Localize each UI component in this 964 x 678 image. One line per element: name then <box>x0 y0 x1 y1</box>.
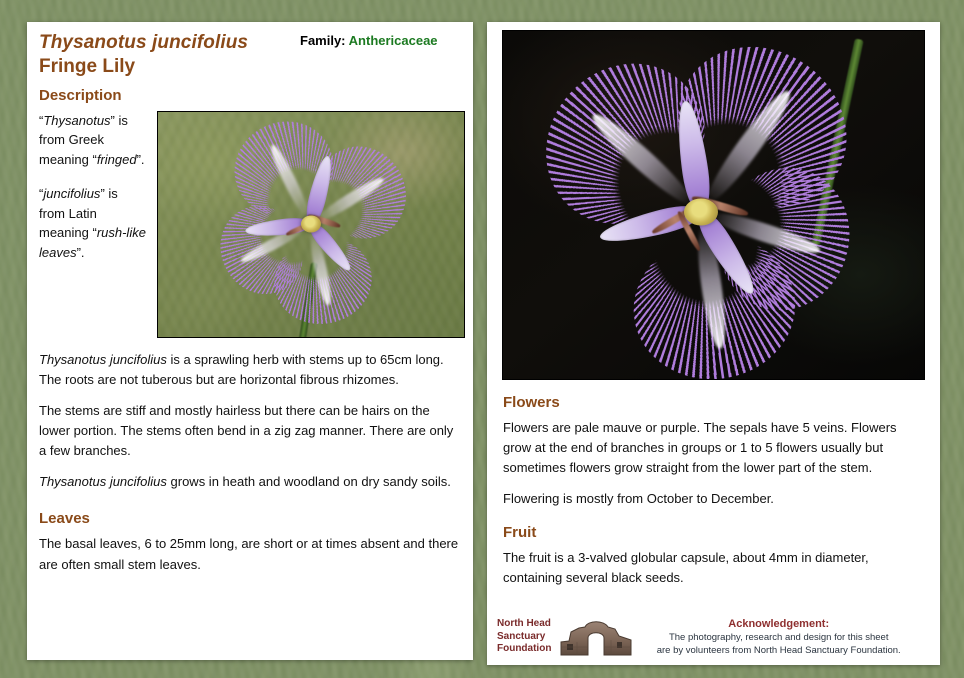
leaves-text: The basal leaves, 6 to 25mm long, are sh… <box>39 534 461 574</box>
description-paragraph-2: The stems are stiff and mostly hairless … <box>39 401 461 461</box>
description-heading: Description <box>39 87 461 105</box>
flowers-paragraph-1: Flowers are pale mauve or purple. The se… <box>503 418 926 478</box>
paragraph-3-italic-lead: Thysanotus juncifolius <box>39 474 167 489</box>
footer: North Head Sanctuary Foundation <box>487 609 940 665</box>
right-text-block: Flowers Flowers are pale mauve or purple… <box>487 380 940 588</box>
fruit-heading: Fruit <box>503 524 926 542</box>
left-content-panel: Thysanotus juncifolius Fringe Lily Descr… <box>27 22 473 660</box>
flower-center <box>684 198 718 225</box>
acknowledgement-line-2: are by volunteers from North Head Sanctu… <box>633 645 924 658</box>
acknowledgement-line-1: The photography, research and design for… <box>633 632 924 645</box>
family-value: Anthericaceae <box>349 33 438 48</box>
etymology-paragraph-1: “Thysanotus” is from Greek meaning “frin… <box>39 111 147 170</box>
etymology-term-1: Thysanotus <box>43 113 110 128</box>
right-content-panel: Flowers Flowers are pale mauve or purple… <box>487 22 940 665</box>
paragraph-2-text: The stems are stiff and mostly hairless … <box>39 403 453 458</box>
family-line: Family: Anthericaceae <box>300 33 438 48</box>
flowers-heading: Flowers <box>503 394 926 412</box>
acknowledgement-block: Acknowledgement: The photography, resear… <box>633 617 930 658</box>
family-label: Family: <box>300 33 346 48</box>
description-paragraph-1: Thysanotus juncifolius is a sprawling he… <box>39 350 461 390</box>
fringe-lily-photo-large <box>502 30 925 380</box>
common-name: Fringe Lily <box>39 56 461 79</box>
org-line-1: North Head <box>497 618 551 631</box>
description-paragraph-3: Thysanotus juncifolius grows in heath an… <box>39 472 461 492</box>
organisation-name: North Head Sanctuary Foundation <box>497 618 551 656</box>
acknowledgement-title: Acknowledgement: <box>633 617 924 631</box>
flower-center <box>301 216 321 233</box>
fringe-lily-photo-small <box>157 111 465 338</box>
org-line-3: Foundation <box>497 643 551 656</box>
etymology-paragraph-2: “juncifolius” is from Latin meaning “rus… <box>39 184 147 263</box>
paragraph-3-text: grows in heath and woodland on dry sandy… <box>167 474 451 489</box>
description-row: “Thysanotus” is from Greek meaning “frin… <box>39 111 461 338</box>
org-line-2: Sanctuary <box>497 631 551 644</box>
etymology-term-2: juncifolius <box>43 186 100 201</box>
stone-archway-icon <box>559 618 633 656</box>
flowers-paragraph-2: Flowering is mostly from October to Dece… <box>503 489 926 509</box>
etymology-meaning-1: fringed <box>97 152 137 167</box>
fruit-paragraph: The fruit is a 3-valved globular capsule… <box>503 548 926 588</box>
etymology-column: “Thysanotus” is from Greek meaning “frin… <box>39 111 147 277</box>
description-body: Thysanotus juncifolius is a sprawling he… <box>39 350 461 493</box>
leaves-heading: Leaves <box>39 510 461 528</box>
paragraph-1-italic-lead: Thysanotus juncifolius <box>39 352 167 367</box>
organisation-logo-block: North Head Sanctuary Foundation <box>497 618 633 656</box>
